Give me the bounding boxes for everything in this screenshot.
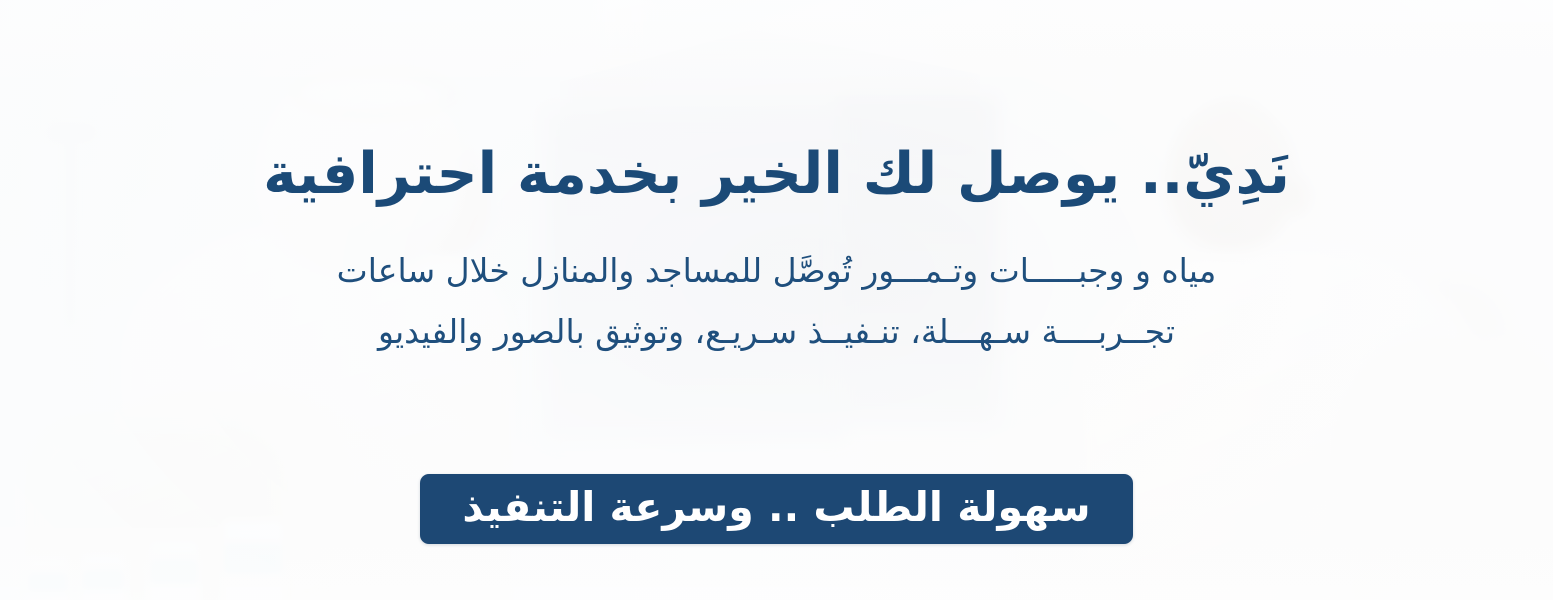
hero-banner: نَدِيّ.. يوصل لك الخير بخدمة احترافية مي… [0,0,1553,600]
subtitle: مياه و وجبـــــات وتـمـــور تُوصَّل للمس… [0,240,1553,362]
banner-content: نَدِيّ.. يوصل لك الخير بخدمة احترافية مي… [0,0,1553,600]
cta-container: سهولة الطلب .. وسرعة التنفيذ [0,474,1553,544]
subtitle-line-2: تجــربــــة سـهـــلة، تنـفيــذ سـريـع، و… [0,301,1553,362]
cta-badge[interactable]: سهولة الطلب .. وسرعة التنفيذ [420,474,1132,544]
headline: نَدِيّ.. يوصل لك الخير بخدمة احترافية [0,142,1553,208]
subtitle-line-1: مياه و وجبـــــات وتـمـــور تُوصَّل للمس… [0,240,1553,301]
